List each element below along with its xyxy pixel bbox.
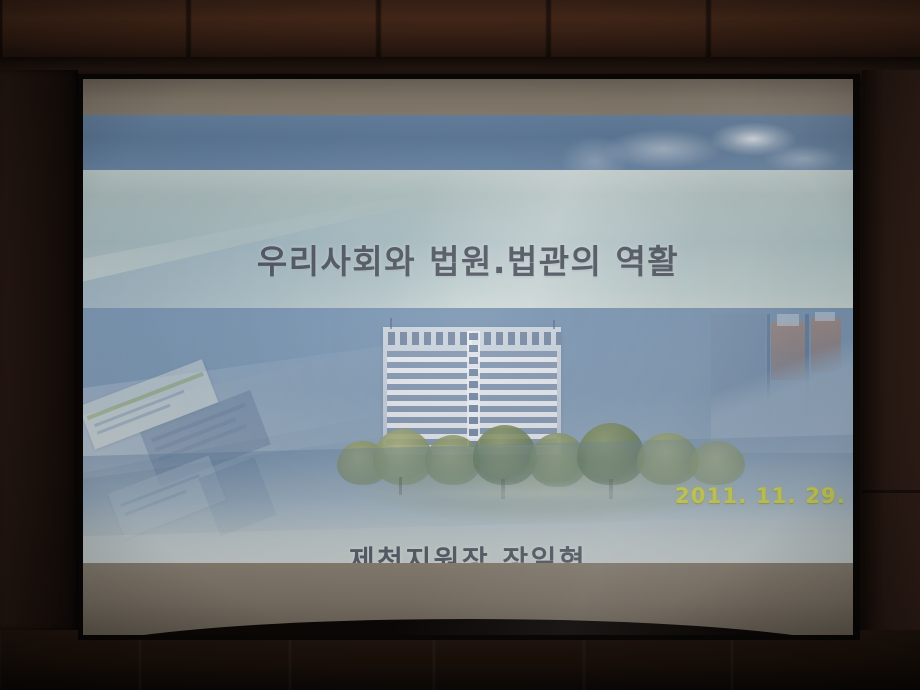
building-antenna-right (553, 320, 555, 329)
wall-left-column (0, 70, 78, 630)
slide-date: 2011. 11. 29. (675, 484, 846, 508)
ceiling-wood-panels (0, 0, 920, 62)
clouds-graphic (503, 115, 853, 171)
room-photograph: 우리사회와 법원.법관의 역활 (0, 0, 920, 690)
screen-blank-area-top (83, 79, 853, 116)
presentation-slide: 우리사회와 법원.법관의 역활 (83, 115, 853, 563)
slide-presenter-name: 제천지원장 장일혁 (83, 539, 853, 563)
wall-right-column (862, 70, 920, 630)
projection-screen: 우리사회와 법원.법관의 역활 (83, 79, 853, 635)
slide-title: 우리사회와 법원.법관의 역활 (83, 235, 853, 283)
building-antenna-left (390, 318, 392, 329)
wall-panel-seam (862, 490, 920, 493)
